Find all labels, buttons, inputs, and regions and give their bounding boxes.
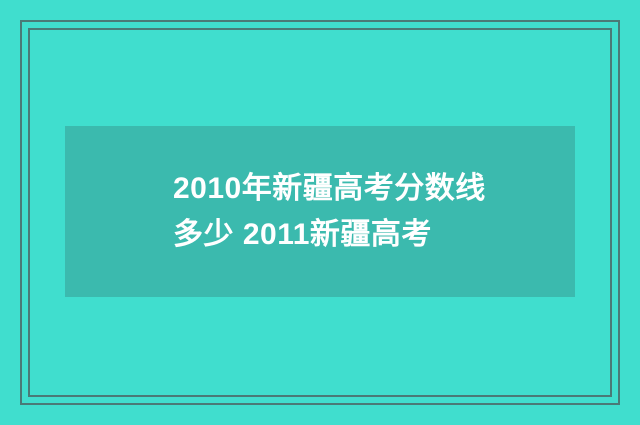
headline-line-2: 多少 2011新疆高考: [173, 212, 432, 258]
poster-canvas: 2010年新疆高考分数线 多少 2011新疆高考: [0, 0, 640, 425]
headline-panel: 2010年新疆高考分数线 多少 2011新疆高考: [65, 126, 575, 297]
headline-line-1: 2010年新疆高考分数线: [173, 166, 486, 212]
